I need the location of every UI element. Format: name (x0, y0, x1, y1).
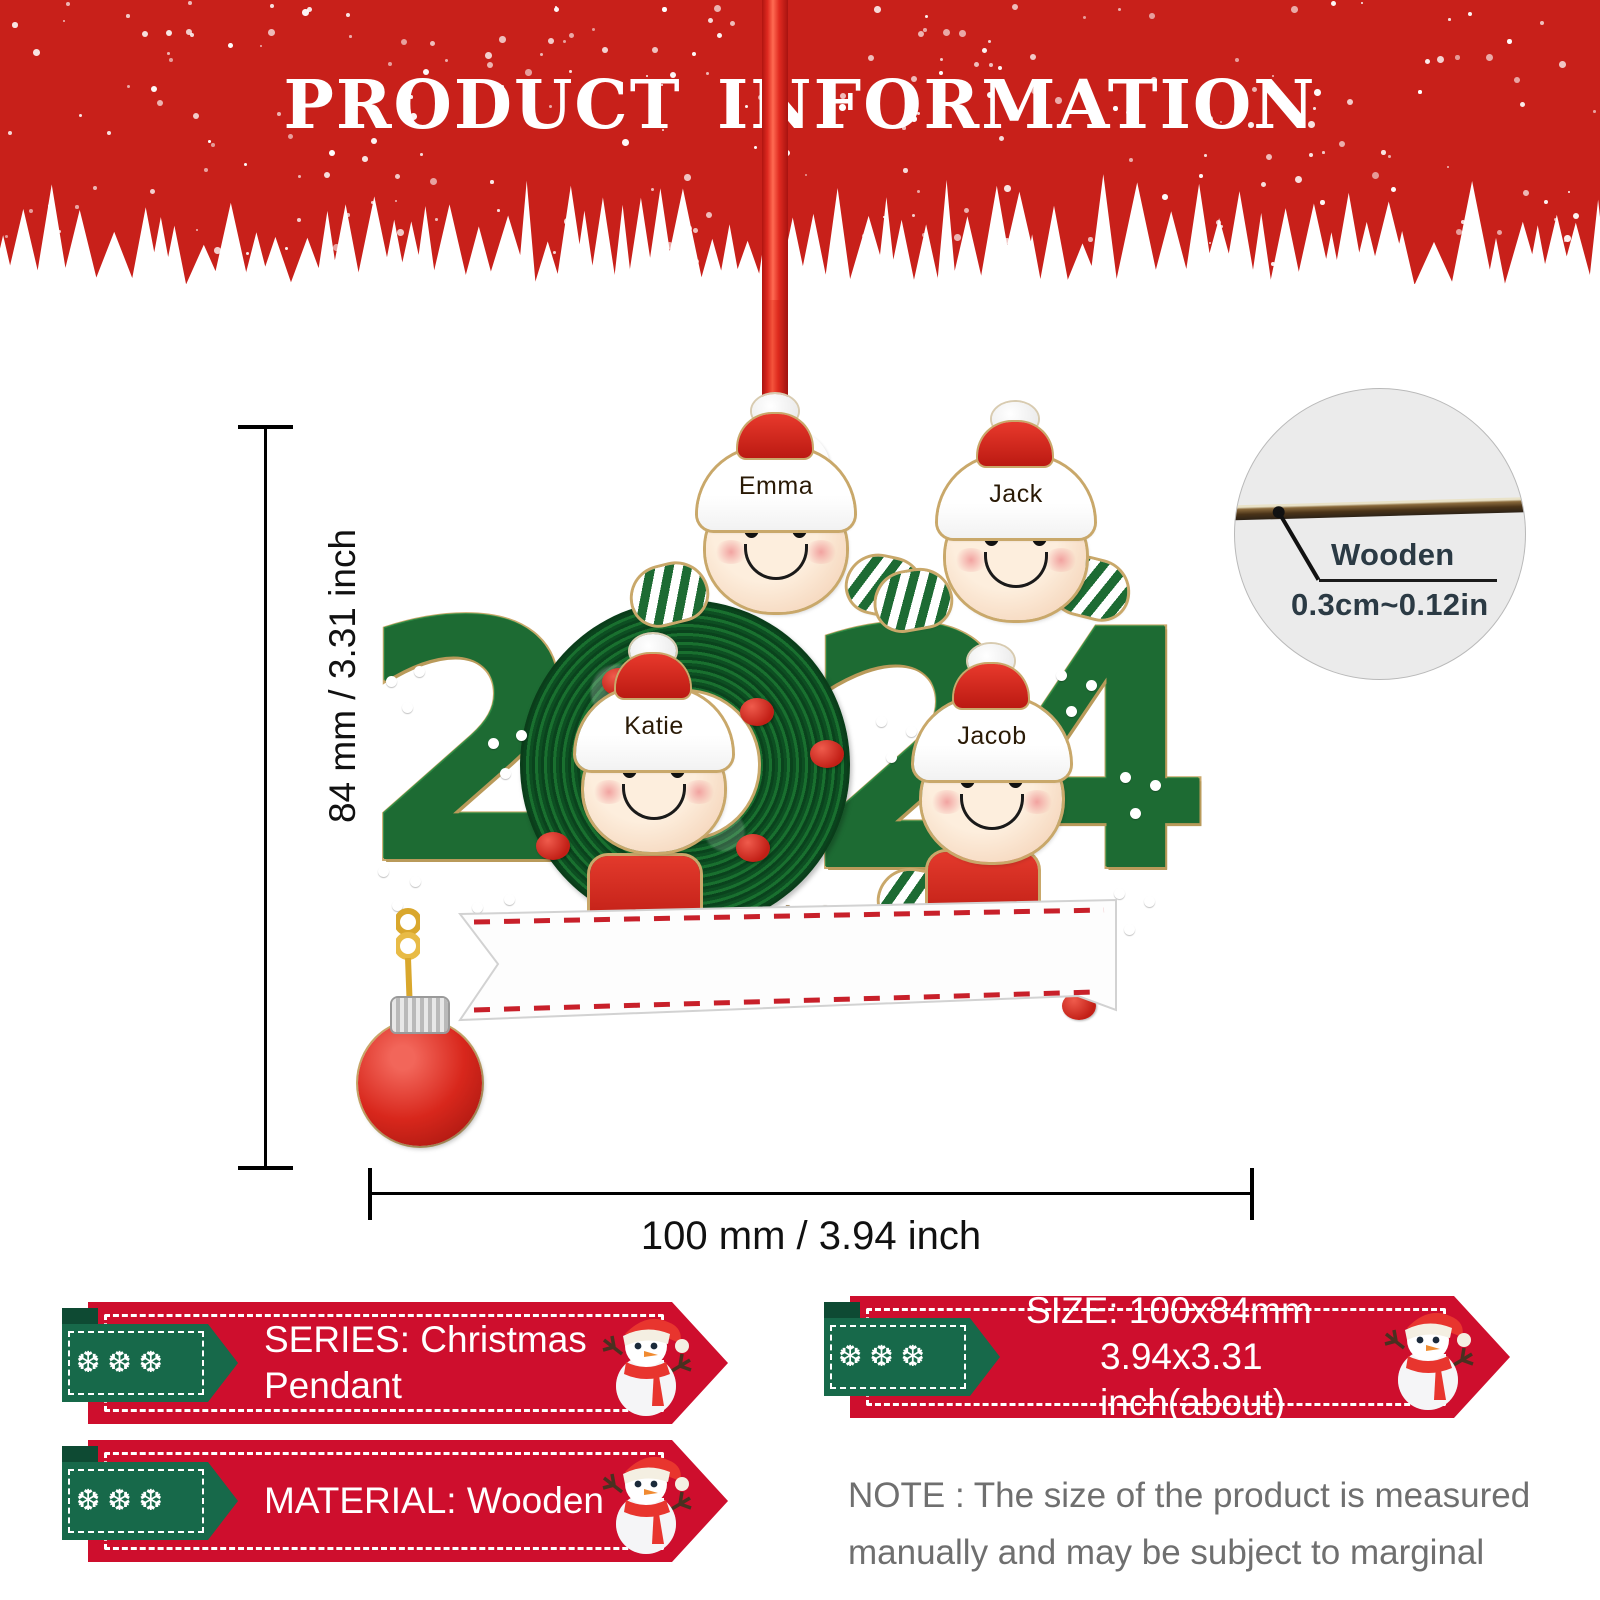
page-title: PRODUCT INFORMATION (0, 38, 1600, 151)
snowflake-icon: ❆ (107, 1487, 131, 1516)
merry-christmas-banner (458, 898, 1118, 1028)
width-dimension-line (368, 1192, 1254, 1195)
santa-hat: Katie (576, 688, 732, 770)
thickness-value-label: 0.3cm~0.12in (1291, 587, 1489, 623)
name-label-emma: Emma (698, 472, 854, 501)
snowman-icon (592, 1310, 700, 1420)
thickness-detail-inset: Wooden 0.3cm~0.12in (1234, 388, 1526, 680)
tag-series-label: SERIES: Christmas Pendant (264, 1317, 618, 1410)
snowflake-tag: ❆ ❆ ❆ (62, 1324, 238, 1402)
product-information-page: PRODUCT INFORMATION 2 2 4 (0, 0, 1600, 1600)
page-header: PRODUCT INFORMATION (0, 0, 1600, 290)
snowflake-tag: ❆ ❆ ❆ (824, 1318, 1000, 1396)
tag-size-label-line1: SIZE: 100x84mm (1026, 1288, 1400, 1334)
dangling-ball-ornament (358, 1020, 482, 1146)
snowflake-icon: ❆ (76, 1349, 100, 1378)
name-label-katie: Katie (576, 712, 732, 741)
snowman-icon (592, 1448, 700, 1558)
tag-series: ❆ ❆ ❆ SERIES: Christmas Pendant (88, 1302, 728, 1424)
product-image: 2 2 4 (340, 420, 1260, 1180)
ball-cap (392, 998, 448, 1032)
width-dimension-label: 100 mm / 3.94 inch (368, 1214, 1254, 1259)
hanging-ribbon-top (762, 0, 788, 300)
name-label-jack: Jack (938, 480, 1094, 509)
snowflake-icon: ❆ (107, 1349, 131, 1378)
snowflake-tag: ❆ ❆ ❆ (62, 1462, 238, 1540)
thickness-material-label: Wooden (1331, 537, 1454, 573)
tag-material: ❆ ❆ ❆ MATERIAL: Wooden (88, 1440, 728, 1562)
snowflake-icon: ❆ (838, 1343, 862, 1372)
height-dimension-line (264, 425, 267, 1170)
callout-leader-line (1235, 389, 1525, 679)
santa-hat: Jack (938, 456, 1094, 538)
snowman-icon (1374, 1304, 1482, 1414)
santa-hat: Emma (698, 448, 854, 530)
thickness-rule (1319, 579, 1497, 582)
tag-size: ❆ ❆ ❆ SIZE: 100x84mm 3.94x3.31 inch(abou… (850, 1296, 1510, 1418)
size-note: NOTE : The size of the product is measur… (848, 1468, 1548, 1600)
height-dimension-label: 84 mm / 3.31 inch (322, 529, 364, 823)
holly-berry (536, 832, 570, 860)
treeline-divider (0, 172, 1600, 290)
holly-berry (740, 698, 774, 726)
snowflake-icon: ❆ (76, 1487, 100, 1516)
character-katie: Katie (570, 688, 738, 858)
character-jacob: Jacob (908, 698, 1076, 868)
snowflake-icon: ❆ (901, 1343, 925, 1372)
santa-hat: Jacob (914, 698, 1070, 780)
snowflake-icon: ❆ (139, 1487, 163, 1516)
snowflake-icon: ❆ (139, 1349, 163, 1378)
name-label-jacob: Jacob (914, 722, 1070, 751)
character-emma: Emma (692, 448, 860, 618)
tag-size-label-line2: 3.94x3.31 inch(about) (1026, 1334, 1400, 1427)
character-jack: Jack (932, 456, 1100, 626)
snowflake-icon: ❆ (869, 1343, 893, 1372)
tag-material-label: MATERIAL: Wooden (264, 1478, 618, 1524)
holly-berry (736, 834, 770, 862)
holly-berry (810, 740, 844, 768)
